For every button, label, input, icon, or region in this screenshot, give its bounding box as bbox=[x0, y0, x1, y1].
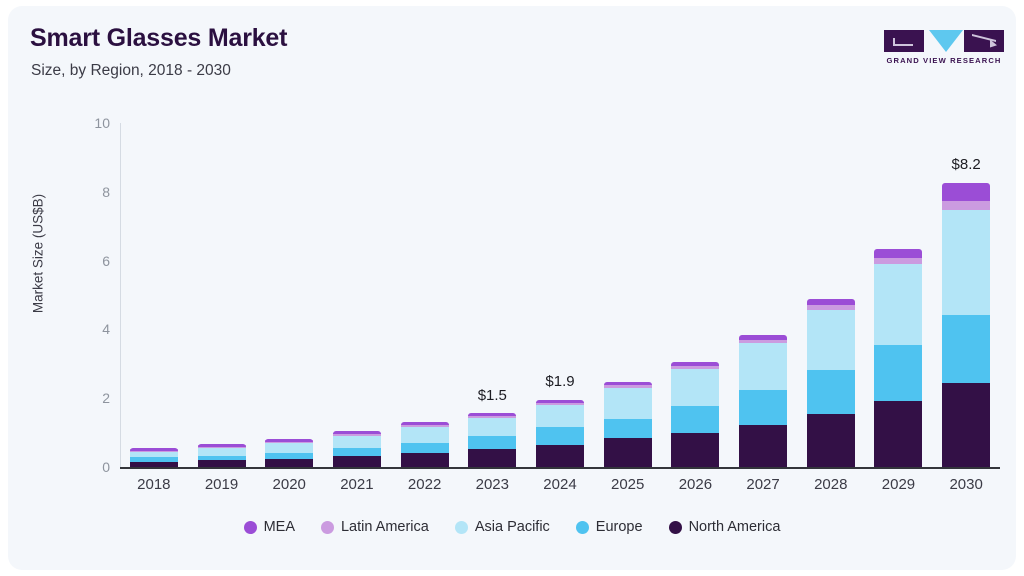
bar-segment-2030-europe[interactable] bbox=[942, 315, 990, 383]
logo-bracket-icon bbox=[893, 38, 913, 46]
logo-square-left-icon bbox=[884, 30, 924, 52]
bar-segment-2019-mea[interactable] bbox=[198, 444, 246, 447]
bar-segment-2025-north-america[interactable] bbox=[604, 438, 652, 467]
bar-segment-2028-latin-america[interactable] bbox=[807, 305, 855, 309]
legend-swatch-icon bbox=[669, 521, 682, 534]
x-axis-tick-2023: 2023 bbox=[458, 476, 526, 493]
legend-label: Asia Pacific bbox=[475, 519, 550, 535]
x-axis-tick-2019: 2019 bbox=[188, 476, 256, 493]
bar-segment-2023-asia-pacific[interactable] bbox=[468, 418, 516, 436]
bar-segment-2029-asia-pacific[interactable] bbox=[874, 264, 922, 346]
bar-segment-2020-mea[interactable] bbox=[265, 439, 313, 442]
bar-segment-2028-europe[interactable] bbox=[807, 370, 855, 414]
logo-square-right-icon bbox=[964, 30, 1004, 52]
logo-text: GRAND VIEW RESEARCH bbox=[884, 56, 1004, 65]
legend-swatch-icon bbox=[244, 521, 257, 534]
legend-item-latin-america[interactable]: Latin America bbox=[321, 519, 429, 535]
bar-segment-2020-north-america[interactable] bbox=[265, 459, 313, 467]
bar-segment-2029-mea[interactable] bbox=[874, 249, 922, 258]
bar-segment-2027-europe[interactable] bbox=[739, 390, 787, 425]
y-axis-tick-2: 2 bbox=[50, 390, 110, 406]
bar-segment-2029-europe[interactable] bbox=[874, 345, 922, 401]
x-axis-tick-2025: 2025 bbox=[594, 476, 662, 493]
bar-value-label-2024: $1.9 bbox=[545, 373, 574, 390]
logo-arrow-icon bbox=[972, 34, 996, 49]
bar-segment-2022-north-america[interactable] bbox=[401, 453, 449, 467]
bar-segment-2018-asia-pacific[interactable] bbox=[130, 452, 178, 458]
bar-segment-2026-north-america[interactable] bbox=[671, 433, 719, 467]
bar-segment-2028-north-america[interactable] bbox=[807, 414, 855, 467]
y-axis-tick-8: 8 bbox=[50, 184, 110, 200]
x-axis-tick-2021: 2021 bbox=[323, 476, 391, 493]
bar-segment-2022-asia-pacific[interactable] bbox=[401, 427, 449, 442]
page-title: Smart Glasses Market bbox=[30, 24, 287, 53]
y-axis-tick-labels: 0246810 bbox=[48, 123, 110, 467]
bar-segment-2025-mea[interactable] bbox=[604, 382, 652, 385]
bar-segment-2027-latin-america[interactable] bbox=[739, 340, 787, 343]
bar-segment-2026-asia-pacific[interactable] bbox=[671, 369, 719, 406]
y-axis-tick-6: 6 bbox=[50, 253, 110, 269]
legend-item-mea[interactable]: MEA bbox=[244, 519, 295, 535]
logo-triangle-icon bbox=[929, 30, 963, 52]
bar-segment-2021-europe[interactable] bbox=[333, 448, 381, 456]
legend-swatch-icon bbox=[455, 521, 468, 534]
x-axis-tick-2027: 2027 bbox=[729, 476, 797, 493]
x-axis-tick-2030: 2030 bbox=[932, 476, 1000, 493]
x-axis-tick-2022: 2022 bbox=[391, 476, 459, 493]
legend: MEALatin AmericaAsia PacificEuropeNorth … bbox=[8, 519, 1016, 535]
bar-segment-2029-north-america[interactable] bbox=[874, 401, 922, 467]
bar-segment-2021-asia-pacific[interactable] bbox=[333, 436, 381, 448]
legend-label: North America bbox=[689, 519, 781, 535]
x-axis-tick-2020: 2020 bbox=[255, 476, 323, 493]
bar-value-label-2030: $8.2 bbox=[952, 156, 981, 173]
bar-segment-2028-mea[interactable] bbox=[807, 299, 855, 305]
bar-segment-2020-europe[interactable] bbox=[265, 453, 313, 459]
y-axis-title: Market Size (US$B) bbox=[31, 104, 46, 404]
bar-segment-2025-asia-pacific[interactable] bbox=[604, 388, 652, 419]
legend-swatch-icon bbox=[321, 521, 334, 534]
bar-segment-2022-mea[interactable] bbox=[401, 422, 449, 425]
y-axis-tick-4: 4 bbox=[50, 321, 110, 337]
bar-segment-2018-europe[interactable] bbox=[130, 457, 178, 461]
bar-segment-2030-north-america[interactable] bbox=[942, 383, 990, 467]
bar-segment-2026-mea[interactable] bbox=[671, 362, 719, 366]
bar-segment-2018-mea[interactable] bbox=[130, 448, 178, 451]
bar-segment-2028-asia-pacific[interactable] bbox=[807, 310, 855, 371]
legend-label: Latin America bbox=[341, 519, 429, 535]
y-axis-tick-0: 0 bbox=[50, 459, 110, 475]
bar-segment-2024-north-america[interactable] bbox=[536, 445, 584, 467]
bar-segment-2023-europe[interactable] bbox=[468, 436, 516, 450]
bar-segment-2023-mea[interactable] bbox=[468, 413, 516, 416]
bar-segment-2027-asia-pacific[interactable] bbox=[739, 343, 787, 390]
bar-segment-2022-europe[interactable] bbox=[401, 443, 449, 454]
legend-item-north-america[interactable]: North America bbox=[669, 519, 781, 535]
bar-segment-2024-europe[interactable] bbox=[536, 427, 584, 445]
page-subtitle: Size, by Region, 2018 - 2030 bbox=[31, 62, 231, 80]
bar-segment-2030-latin-america[interactable] bbox=[942, 201, 990, 210]
bar-value-label-2023: $1.5 bbox=[478, 387, 507, 404]
bar-segment-2025-europe[interactable] bbox=[604, 419, 652, 439]
bar-segment-2024-asia-pacific[interactable] bbox=[536, 405, 584, 427]
legend-item-asia-pacific[interactable]: Asia Pacific bbox=[455, 519, 550, 535]
plot-area: $1.5$1.9$8.2 bbox=[120, 123, 1000, 467]
legend-swatch-icon bbox=[576, 521, 589, 534]
bar-segment-2021-mea[interactable] bbox=[333, 431, 381, 434]
bar-segment-2019-asia-pacific[interactable] bbox=[198, 448, 246, 455]
x-axis-tick-2018: 2018 bbox=[120, 476, 188, 493]
x-axis-tick-2029: 2029 bbox=[865, 476, 933, 493]
bar-segment-2023-north-america[interactable] bbox=[468, 449, 516, 467]
grand-view-research-logo: GRAND VIEW RESEARCH bbox=[884, 30, 1004, 66]
legend-item-europe[interactable]: Europe bbox=[576, 519, 643, 535]
bar-segment-2026-latin-america[interactable] bbox=[671, 366, 719, 369]
bar-segment-2030-asia-pacific[interactable] bbox=[942, 210, 990, 315]
legend-label: Europe bbox=[596, 519, 643, 535]
x-axis-line bbox=[120, 467, 1000, 469]
bar-segment-2019-europe[interactable] bbox=[198, 456, 246, 461]
bar-segment-2021-north-america[interactable] bbox=[333, 456, 381, 467]
x-axis-tick-2028: 2028 bbox=[797, 476, 865, 493]
bar-segment-2024-mea[interactable] bbox=[536, 400, 584, 403]
legend-label: MEA bbox=[264, 519, 295, 535]
bar-segment-2020-asia-pacific[interactable] bbox=[265, 443, 313, 452]
bar-segment-2027-north-america[interactable] bbox=[739, 425, 787, 467]
y-axis-tick-10: 10 bbox=[50, 115, 110, 131]
x-axis-tick-2026: 2026 bbox=[662, 476, 730, 493]
bar-segment-2027-mea[interactable] bbox=[739, 335, 787, 340]
bar-segment-2026-europe[interactable] bbox=[671, 406, 719, 433]
x-axis-tick-2024: 2024 bbox=[526, 476, 594, 493]
chart-card: Smart Glasses Market Size, by Region, 20… bbox=[8, 6, 1016, 570]
bar-segment-2030-mea[interactable] bbox=[942, 183, 990, 201]
bar-segment-2029-latin-america[interactable] bbox=[874, 258, 922, 264]
